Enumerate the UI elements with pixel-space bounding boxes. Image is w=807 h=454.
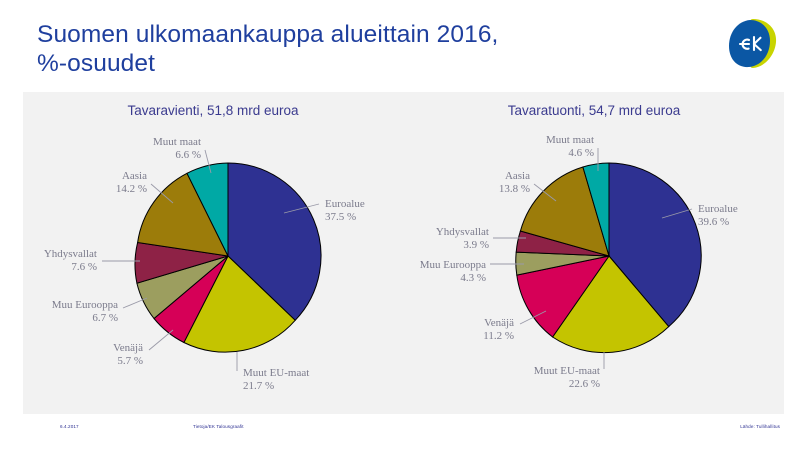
pie-label-aasia-value: 13.8 % — [499, 183, 530, 195]
pie-label-aasia-name: Aasia — [505, 170, 530, 182]
chart-import-plot: Euroalue 39.6 % Muut EU-maat 22.6 % Venä… — [404, 128, 784, 414]
pie-label-yhdysvallat-name: Yhdysvallat — [436, 226, 489, 238]
pie-label-muut-maat-name: Muut maat — [153, 136, 201, 148]
pie-label-muut-eu-maat-value: 22.6 % — [569, 378, 600, 390]
pie-label-venaja-name: Venäjä — [113, 342, 143, 354]
pie-label-muut-eu-maat: Muut EU-maat 21.7 % — [243, 367, 309, 392]
pie-label-yhdysvallat-value: 7.6 % — [71, 261, 97, 273]
pie-label-aasia-value: 14.2 % — [116, 183, 147, 195]
pie-label-euroalue-name: Euroalue — [698, 203, 738, 215]
pie-label-muut-maat-value: 4.6 % — [568, 147, 594, 159]
pie-label-muu-eurooppa-name: Muu Eurooppa — [420, 259, 486, 271]
footer-center-text: Tietoja/EK Talousgraafit — [193, 424, 244, 429]
pie-label-muu-eurooppa: Muu Eurooppa 6.7 % — [52, 299, 118, 324]
chart-export: Tavaravienti, 51,8 mrd euroa — [23, 92, 403, 414]
pie-label-venaja: Venäjä 11.2 % — [483, 317, 514, 342]
footer-date: 6.4.2017 — [60, 424, 79, 429]
pie-label-yhdysvallat: Yhdysvallat 3.9 % — [436, 226, 489, 251]
pie-label-yhdysvallat-name: Yhdysvallat — [44, 248, 97, 260]
pie-label-euroalue: Euroalue 39.6 % — [698, 203, 738, 228]
leader-muu-eurooppa — [123, 298, 147, 308]
pie-label-muut-maat-name: Muut maat — [546, 134, 594, 146]
pie-label-yhdysvallat-value: 3.9 % — [463, 239, 489, 251]
pie-label-muu-eurooppa-value: 6.7 % — [92, 312, 118, 324]
leader-venaja — [149, 330, 173, 350]
ek-logo — [723, 15, 781, 73]
pie-label-euroalue: Euroalue 37.5 % — [325, 198, 365, 223]
chart-export-plot: Euroalue 37.5 % Muut EU-maat 21.7 % Venä… — [23, 128, 403, 414]
slide-header: Suomen ulkomaankauppa alueittain 2016, %… — [0, 0, 807, 86]
chart-import-title: Tavaratuonti, 54,7 mrd euroa — [404, 103, 784, 118]
pie-label-muu-eurooppa-value: 4.3 % — [460, 272, 486, 284]
ek-logo-icon — [723, 15, 781, 73]
pie-label-euroalue-name: Euroalue — [325, 198, 365, 210]
pie-label-yhdysvallat: Yhdysvallat 7.6 % — [44, 248, 97, 273]
pie-label-venaja: Venäjä 5.7 % — [113, 342, 143, 367]
chart-import: Tavaratuonti, 54,7 mrd euroa — [404, 92, 784, 414]
pie-label-venaja-value: 11.2 % — [483, 330, 514, 342]
pie-label-euroalue-value: 39.6 % — [698, 216, 729, 228]
pie-label-venaja-name: Venäjä — [484, 317, 514, 329]
pie-label-muut-eu-maat: Muut EU-maat 22.6 % — [534, 365, 600, 390]
slide-footer: 6.4.2017 Tietoja/EK Talousgraafit Lähde:… — [0, 424, 807, 454]
pie-label-muut-maat: Muut maat 4.6 % — [546, 134, 594, 159]
pie-label-muut-maat: Muut maat 6.6 % — [153, 136, 201, 161]
page-title: Suomen ulkomaankauppa alueittain 2016, %… — [37, 20, 657, 78]
pie-label-muut-eu-maat-name: Muut EU-maat — [534, 365, 600, 377]
pie-label-muut-eu-maat-value: 21.7 % — [243, 380, 274, 392]
footer-source: Lähde: Tullihallitus — [740, 424, 780, 429]
pie-label-aasia: Aasia 13.8 % — [499, 170, 530, 195]
pie-label-aasia-name: Aasia — [122, 170, 147, 182]
pie-label-venaja-value: 5.7 % — [117, 355, 143, 367]
pie-label-muu-eurooppa-name: Muu Eurooppa — [52, 299, 118, 311]
pie-label-aasia: Aasia 14.2 % — [116, 170, 147, 195]
chart-export-title: Tavaravienti, 51,8 mrd euroa — [23, 103, 403, 118]
pie-label-muut-eu-maat-name: Muut EU-maat — [243, 367, 309, 379]
pie-label-euroalue-value: 37.5 % — [325, 211, 356, 223]
slide-canvas: Suomen ulkomaankauppa alueittain 2016, %… — [0, 0, 807, 454]
pie-label-muu-eurooppa: Muu Eurooppa 4.3 % — [420, 259, 486, 284]
charts-panel: Tavaravienti, 51,8 mrd euroa — [23, 92, 784, 414]
pie-label-muut-maat-value: 6.6 % — [175, 149, 201, 161]
